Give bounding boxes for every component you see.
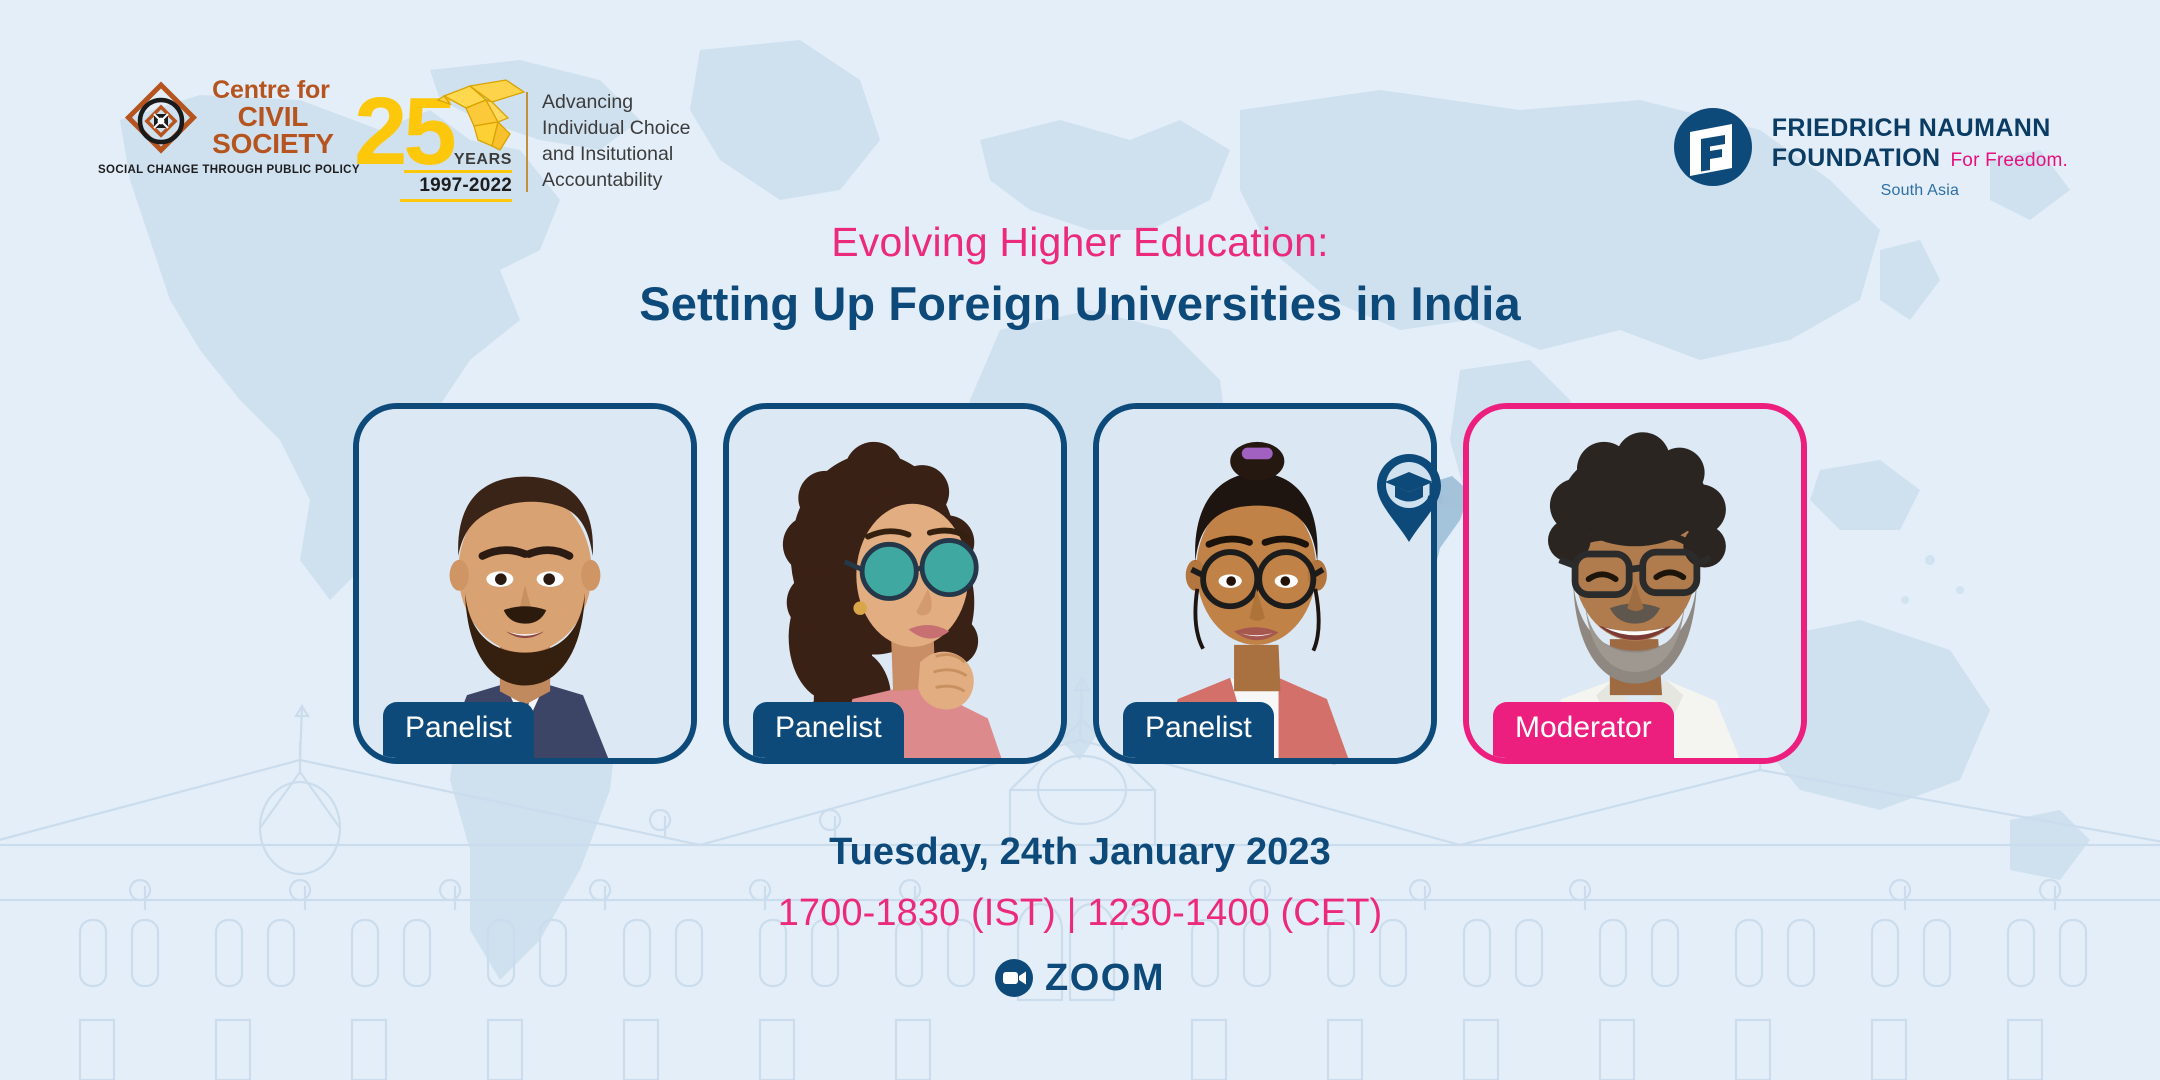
tagline-line-4: Accountability	[542, 168, 691, 194]
title-line-1: Evolving Higher Education:	[0, 218, 2160, 266]
tagline-line-2: Individual Choice	[542, 116, 691, 142]
diamond-circle-mark-icon	[124, 81, 198, 155]
ccs-line-1: Centre for	[212, 78, 334, 103]
anniversary-word: YEARS	[454, 151, 512, 169]
fnf-line-1: FRIEDRICH NAUMANN	[1772, 114, 2068, 144]
platform-row: ZOOM	[0, 957, 2160, 1000]
graduation-cap-map-pin-icon	[1375, 452, 1443, 544]
event-date: Tuesday, 24th January 2023	[0, 828, 2160, 877]
speaker-card-2[interactable]: Panelist	[723, 403, 1067, 764]
anniversary-logo: 25 YEARS	[360, 88, 691, 198]
title-line-2: Setting Up Foreign Universities in India	[0, 276, 2160, 331]
origami-bird-icon	[436, 78, 532, 159]
event-time: 1700-1830 (IST) | 1230-1400 (CET)	[0, 889, 2160, 938]
ccs-line-2: CIVIL	[212, 103, 334, 130]
event-banner: Centre for CIVIL SOCIETY SOCIAL CHANGE T…	[0, 0, 2160, 1080]
role-badge: Moderator	[1493, 702, 1674, 758]
ccs-logo: Centre for CIVIL SOCIETY SOCIAL CHANGE T…	[98, 78, 360, 176]
speaker-card-4[interactable]: Moderator	[1463, 403, 1807, 764]
anniversary-tagline: Advancing Individual Choice and Insituti…	[542, 88, 691, 194]
anniversary-range: 1997-2022	[419, 175, 512, 197]
fnf-f-mark-icon	[1674, 108, 1752, 186]
speaker-cards: Panelist	[0, 403, 2160, 764]
ccs-tagline: SOCIAL CHANGE THROUGH PUBLIC POLICY	[98, 164, 360, 176]
ccs-line-3: SOCIETY	[212, 130, 334, 157]
anniversary-rule-top	[404, 170, 512, 173]
role-badge: Panelist	[753, 702, 904, 758]
role-badge: Panelist	[383, 702, 534, 758]
event-title: Evolving Higher Education: Setting Up Fo…	[0, 218, 2160, 332]
tagline-line-3: and Insitutional	[542, 142, 691, 168]
event-footer: Tuesday, 24th January 2023 1700-1830 (IS…	[0, 828, 2160, 1000]
role-badge: Panelist	[1123, 702, 1274, 758]
fnf-slogan: For Freedom.	[1951, 150, 2069, 172]
fnf-region: South Asia	[1772, 182, 2068, 200]
logo-row: Centre for CIVIL SOCIETY SOCIAL CHANGE T…	[0, 0, 2160, 250]
anniversary-rule-bottom	[400, 199, 512, 202]
zoom-camera-icon	[995, 959, 1033, 997]
platform-label: ZOOM	[1045, 957, 1165, 1000]
speaker-card-1[interactable]: Panelist	[353, 403, 697, 764]
fnf-line-2: FOUNDATION	[1772, 144, 1941, 174]
fnf-logo: FRIEDRICH NAUMANN FOUNDATION For Freedom…	[1674, 108, 2068, 200]
tagline-line-1: Advancing	[542, 90, 691, 116]
